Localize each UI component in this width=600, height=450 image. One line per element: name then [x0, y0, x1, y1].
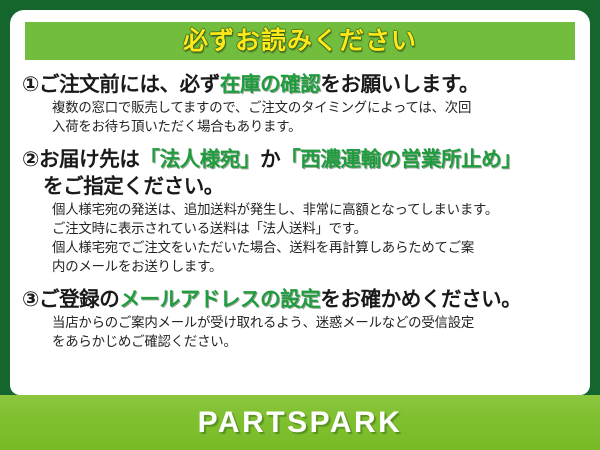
notice-body-line: 当店からのご案内メールが受け取れるよう、迷惑メールなどの受信設定	[52, 313, 582, 332]
notice-body-line: 個人様宅宛でご注文をいただいた場合、送料を再計算しあらためてご案	[52, 238, 582, 257]
notice-item: ③ご登録のメールアドレスの設定をお確かめください。当店からのご案内メールが受け取…	[22, 287, 582, 351]
notice-item: ②お届け先は「法人様宛」か「西濃運輸の営業所止め」をご指定ください。個人様宅宛の…	[22, 147, 582, 276]
notice-body: 複数の窓口で販売してますので、ご注文のタイミングによっては、次回入荷をお待ち頂い…	[22, 98, 582, 136]
notice-heading-highlight: 「法人様宛」	[139, 148, 260, 171]
notice-body-line: 入荷をお待ち頂いただく場合もあります。	[52, 117, 582, 136]
notice-heading: ③ご登録のメールアドレスの設定をお確かめください。	[22, 287, 582, 313]
notice-heading: ②お届け先は「法人様宛」か「西濃運輸の営業所止め」	[22, 147, 582, 173]
notice-heading: ①ご注文前には、必ず在庫の確認をお願いします。	[22, 72, 582, 98]
notice-heading-text: をお願いします。	[320, 73, 479, 96]
notice-heading-highlight: 「西濃運輸の営業所止め」	[280, 148, 521, 171]
brand-name: PARTSPARK	[198, 406, 403, 440]
notice-body-line: 個人様宅宛の発送は、追加送料が発生し、非常に高額となってしまいます。	[52, 200, 582, 219]
page-title: 必ずお読みください	[183, 29, 417, 54]
notice-banner: 必ずお読みください ①ご注文前には、必ず在庫の確認をお願いします。複数の窓口で販…	[0, 0, 600, 450]
notice-body-line: をあらかじめご確認ください。	[52, 332, 582, 351]
notice-heading-text: か	[260, 148, 280, 171]
footer-bar: PARTSPARK	[0, 395, 600, 450]
notice-body-line: 複数の窓口で販売してますので、ご注文のタイミングによっては、次回	[52, 98, 582, 117]
notice-heading-text: ご注文前には、必ず	[39, 73, 220, 96]
notice-heading-text: をご指定ください。	[43, 175, 224, 198]
title-bar: 必ずお読みください	[25, 22, 575, 60]
notice-heading-highlight: 在庫の確認	[220, 73, 321, 96]
notice-body-line: 内のメールをお送りします。	[52, 257, 582, 276]
notice-body: 個人様宅宛の発送は、追加送料が発生し、非常に高額となってしまいます。ご注文時に表…	[22, 200, 582, 276]
notice-heading-text: ご登録の	[39, 288, 119, 311]
notice-heading-highlight: メールアドレスの設定	[119, 288, 320, 311]
notice-item: ①ご注文前には、必ず在庫の確認をお願いします。複数の窓口で販売してますので、ご注…	[22, 72, 582, 136]
notice-marker: ③	[22, 288, 39, 311]
notice-body-line: ご注文時に表示されている送料は「法人送料」です。	[52, 219, 582, 238]
notice-heading-line2: をご指定ください。	[22, 174, 582, 200]
notice-list: ①ご注文前には、必ず在庫の確認をお願いします。複数の窓口で販売してますので、ご注…	[10, 66, 590, 353]
notice-body: 当店からのご案内メールが受け取れるよう、迷惑メールなどの受信設定をあらかじめご確…	[22, 313, 582, 351]
white-panel: 必ずお読みください ①ご注文前には、必ず在庫の確認をお願いします。複数の窓口で販…	[10, 10, 590, 395]
notice-marker: ①	[22, 73, 39, 96]
notice-marker: ②	[22, 148, 39, 171]
notice-heading-text: お届け先は	[39, 148, 140, 171]
notice-heading-text: をお確かめください。	[320, 288, 521, 311]
